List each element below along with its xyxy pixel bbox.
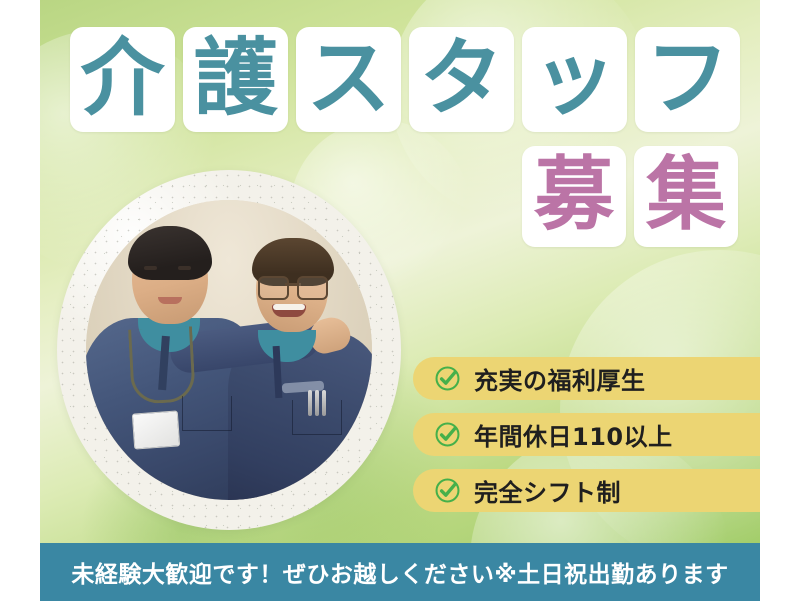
bottom-banner: 未経験大歓迎です！ぜひお越しください※土日祝出勤あります [40,543,760,601]
staff-a-lanyard [128,326,196,404]
staff-a-eye-right [178,266,191,270]
headline-character: タ [419,36,503,120]
staff-b-glasses [258,276,328,296]
headline-character: ス [306,36,390,120]
staff-b-teeth [273,304,305,310]
staff-b-pens [308,390,328,416]
staff-photo [86,200,372,500]
benefits-list: 充実の福利厚生 年間休日110以上 完全シフト制 [413,357,760,512]
banner-text: 未経験大歓迎です！ぜひお越しください※土日祝出勤あります [71,555,728,589]
headline-character: 介 [80,36,164,120]
recruitment-poster: 介 護 ス タ ッ フ 募 集 [0,0,800,601]
headline-character: ッ [532,36,616,120]
check-circle-icon [434,477,461,504]
glasses-lens-left [258,276,289,300]
glasses-lens-right [297,276,328,300]
benefit-item: 充実の福利厚生 [413,357,760,400]
headline-tile: 募 [522,146,626,247]
staff-a-pocket [182,396,232,431]
headline-line-2: 募 集 [522,146,738,247]
staff-a-id-badge [132,410,180,449]
staff-a-mouth [158,297,182,304]
staff-b-mouth [272,304,306,317]
benefit-item: 完全シフト制 [413,469,760,512]
check-circle-icon [434,421,461,448]
benefit-label: 年間休日110以上 [474,417,673,452]
headline-tile: 護 [183,27,288,132]
headline-tile: 集 [634,146,738,247]
benefit-label: 完全シフト制 [474,473,621,508]
headline-tile: ス [296,27,401,132]
staff-photo-circle [57,170,401,530]
headline-character: 募 [534,155,614,235]
headline-character: フ [645,36,729,120]
headline-tile: タ [409,27,514,132]
headline-tile: フ [635,27,740,132]
benefit-label: 充実の福利厚生 [474,361,646,396]
headline-line-1: 介 護 ス タ ッ フ [70,27,740,132]
headline-tile: 介 [70,27,175,132]
staff-a-eye-left [144,266,157,270]
check-circle-icon [434,365,461,392]
benefit-item: 年間休日110以上 [413,413,760,456]
headline-character: 護 [193,36,277,120]
headline-character: 集 [646,155,726,235]
headline-tile: ッ [522,27,627,132]
